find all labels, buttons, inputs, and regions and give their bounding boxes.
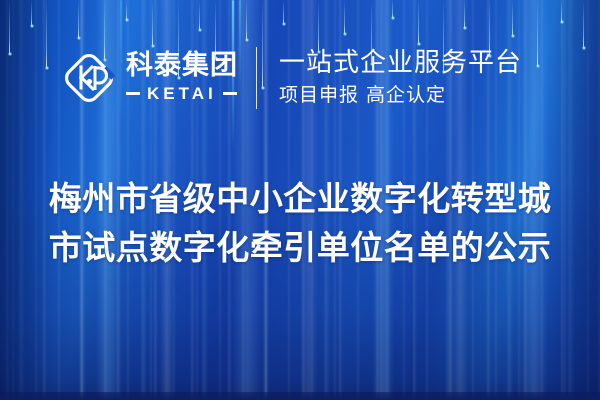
company-name-en: KETAI [147, 84, 217, 104]
company-name-en-row: KETAI [126, 84, 238, 104]
banner-header: 科泰集团 KETAI 一站式企业服务平台 项目申报 高企认定 [62, 44, 522, 112]
tagline-secondary: 项目申报 高企认定 [279, 84, 522, 107]
tagline-primary: 一站式企业服务平台 [279, 49, 522, 79]
company-name-cn: 科泰集团 [126, 52, 238, 80]
wordmark-rule-left-icon [126, 92, 140, 95]
header-divider [256, 47, 257, 109]
ketai-logo-icon [62, 51, 116, 105]
announcement-banner: 科泰集团 KETAI 一站式企业服务平台 项目申报 高企认定 梅州市省级中小企业… [0, 0, 600, 400]
bottom-edge-bar [0, 392, 600, 400]
tagline-block: 一站式企业服务平台 项目申报 高企认定 [279, 49, 522, 107]
logo-wordmark: 科泰集团 KETAI [126, 52, 238, 103]
page-title: 梅州市省级中小企业数字化转型城市试点数字化牵引单位名单的公示 [0, 174, 600, 272]
wordmark-rule-right-icon [223, 92, 237, 95]
